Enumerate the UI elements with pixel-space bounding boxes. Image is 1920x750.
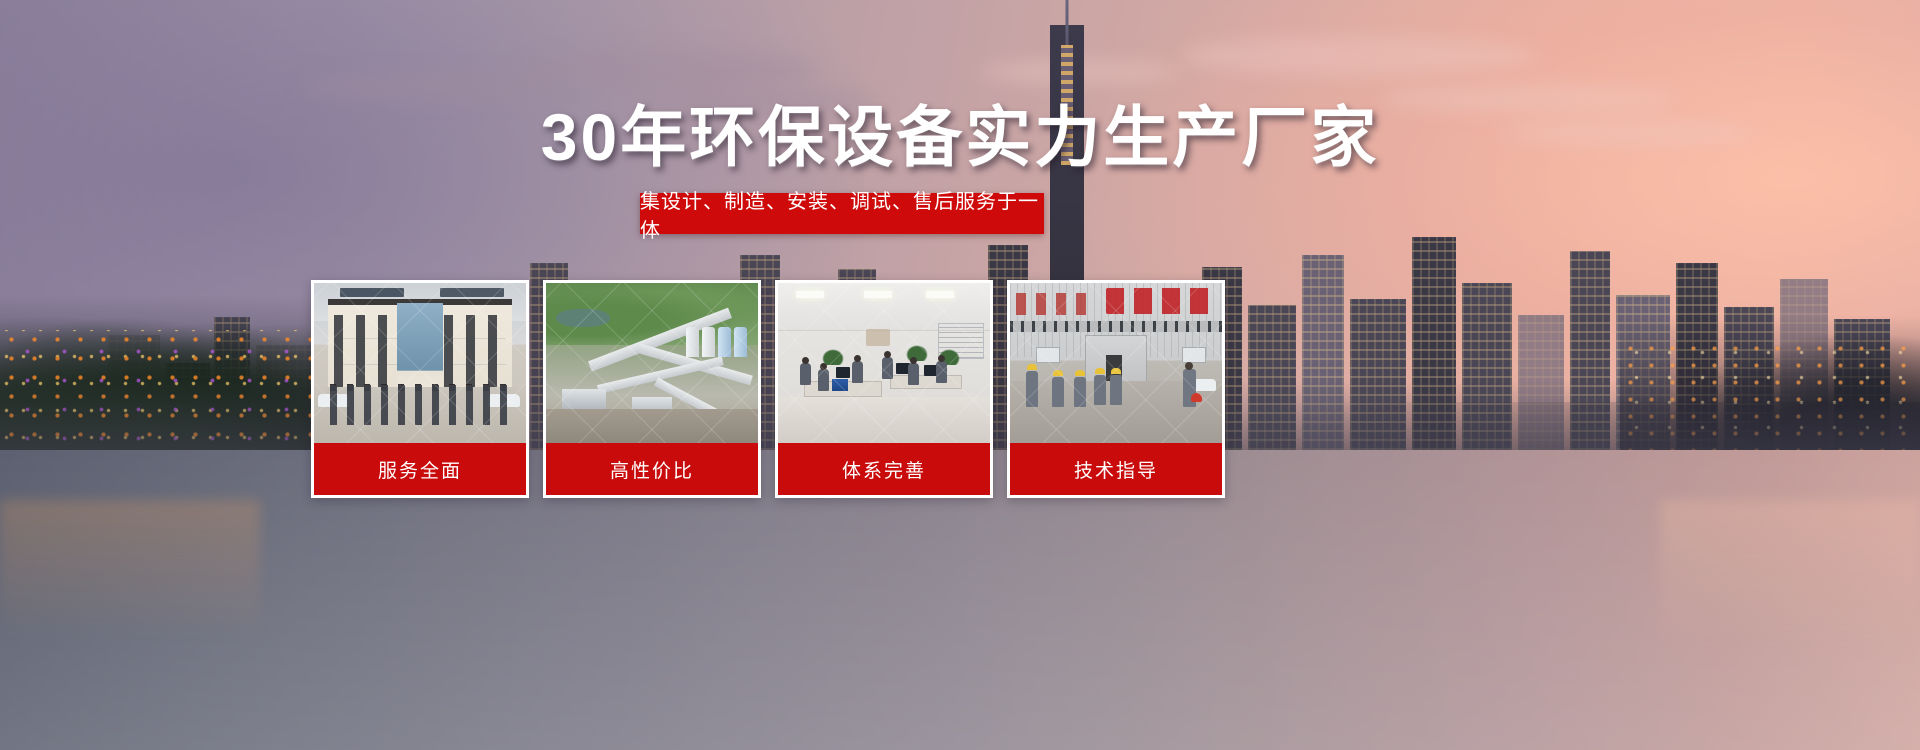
cloud-6 (300, 72, 560, 102)
card-caption-1: 服务全面 (314, 443, 526, 495)
page-title: 30年环保设备实力生产厂家 (0, 104, 1920, 170)
wall-banner-text (1106, 288, 1216, 314)
card-caption-2: 高性价比 (546, 443, 758, 495)
water-reflection-right (1660, 500, 1920, 750)
building-logo-sign (340, 288, 404, 297)
card-caption-4: 技术指导 (1010, 443, 1222, 495)
card-photo-workshop (1010, 283, 1222, 443)
feature-card-list: 服务全面 高性价比 (311, 280, 1561, 498)
building-phone-sign (440, 288, 504, 297)
cloud-1 (520, 50, 820, 88)
subtitle-ribbon: 集设计、制造、安装、调试、售后服务于一体 (640, 193, 1044, 234)
feature-card-2[interactable]: 高性价比 (543, 280, 761, 498)
feature-card-1[interactable]: 服务全面 (311, 280, 529, 498)
feature-card-4[interactable]: 技术指导 (1007, 280, 1225, 498)
cloud-3 (1180, 36, 1540, 76)
water-reflection-left (0, 500, 260, 750)
card-photo-aerial-plant (546, 283, 758, 443)
wall-slogan-text (1016, 293, 1096, 315)
red-hardhat-icon (1191, 393, 1202, 402)
feature-card-3[interactable]: 体系完善 (775, 280, 993, 498)
card-photo-office-building (314, 283, 526, 443)
card-photo-office-interior (778, 283, 990, 443)
hero-banner: 30年环保设备实力生产厂家 集设计、制造、安装、调试、售后服务于一体 服务全面 (0, 0, 1920, 750)
card-caption-3: 体系完善 (778, 443, 990, 495)
